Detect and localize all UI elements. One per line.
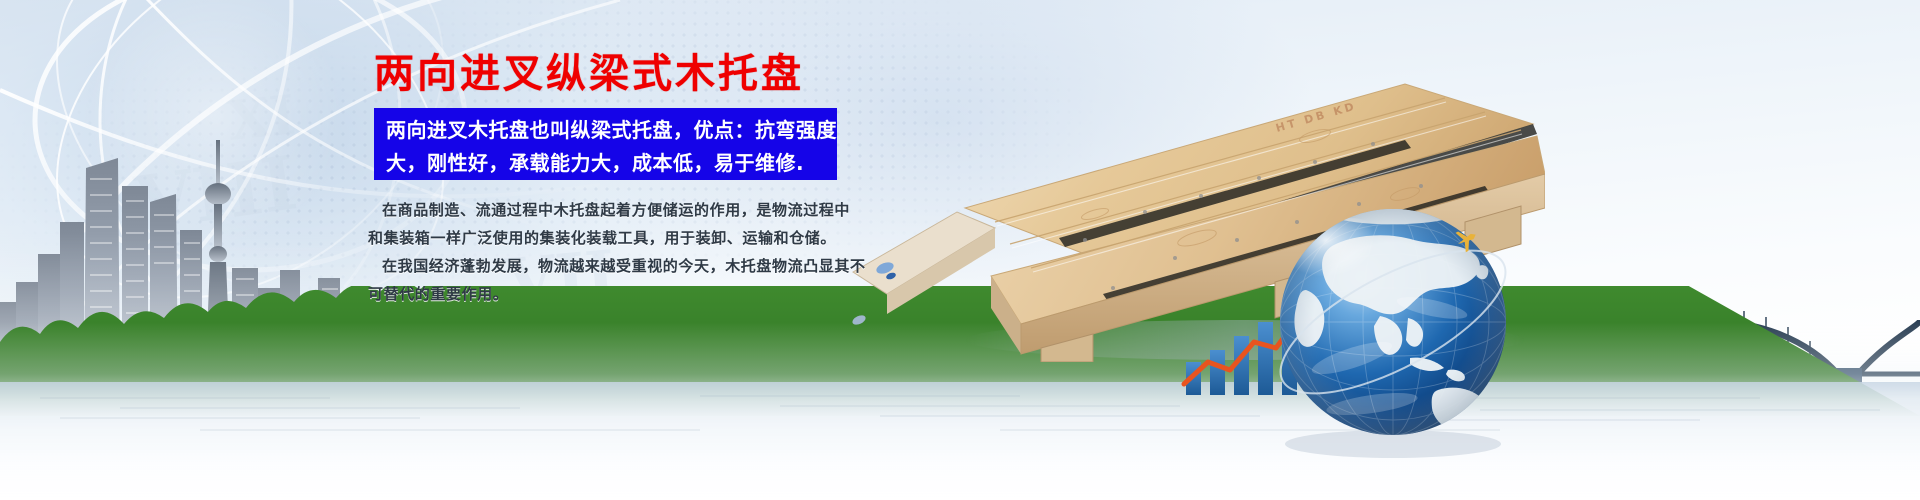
body-line-2: 和集装箱一样广泛使用的集装化装载工具，用于装卸、运输和仓储。 bbox=[368, 224, 848, 252]
page-title: 两向进叉纵梁式木托盘 bbox=[374, 54, 804, 94]
highlight-callout-box: 两向进叉木托盘也叫纵梁式托盘，优点：抗弯强度 大，刚性好，承载能力大，成本低，易… bbox=[374, 108, 837, 180]
body-line-4: 可替代的重要作用。 bbox=[368, 280, 848, 308]
body-paragraph-block: 在商品制造、流通过程中木托盘起着方便储运的作用，是物流过程中 和集装箱一样广泛使… bbox=[368, 196, 848, 308]
water-reflection-band bbox=[0, 382, 1920, 500]
body-line-3: 在我国经济蓬勃发展，物流越来越受重视的今天，木托盘物流凸显其不 bbox=[368, 252, 848, 280]
body-line-1: 在商品制造、流通过程中木托盘起着方便储运的作用，是物流过程中 bbox=[368, 196, 848, 224]
svg-text:XI: XI bbox=[225, 82, 298, 153]
highlight-line-2: 大，刚性好，承载能力大，成本低，易于维修. bbox=[386, 147, 827, 180]
water-streaks bbox=[0, 386, 1920, 482]
earth-globe-graphic bbox=[1262, 198, 1524, 460]
promo-banner: VIII XI X VII IV bbox=[0, 0, 1920, 500]
svg-text:VIII: VIII bbox=[130, 140, 303, 248]
highlight-line-1: 两向进叉木托盘也叫纵梁式托盘，优点：抗弯强度 bbox=[386, 114, 827, 147]
